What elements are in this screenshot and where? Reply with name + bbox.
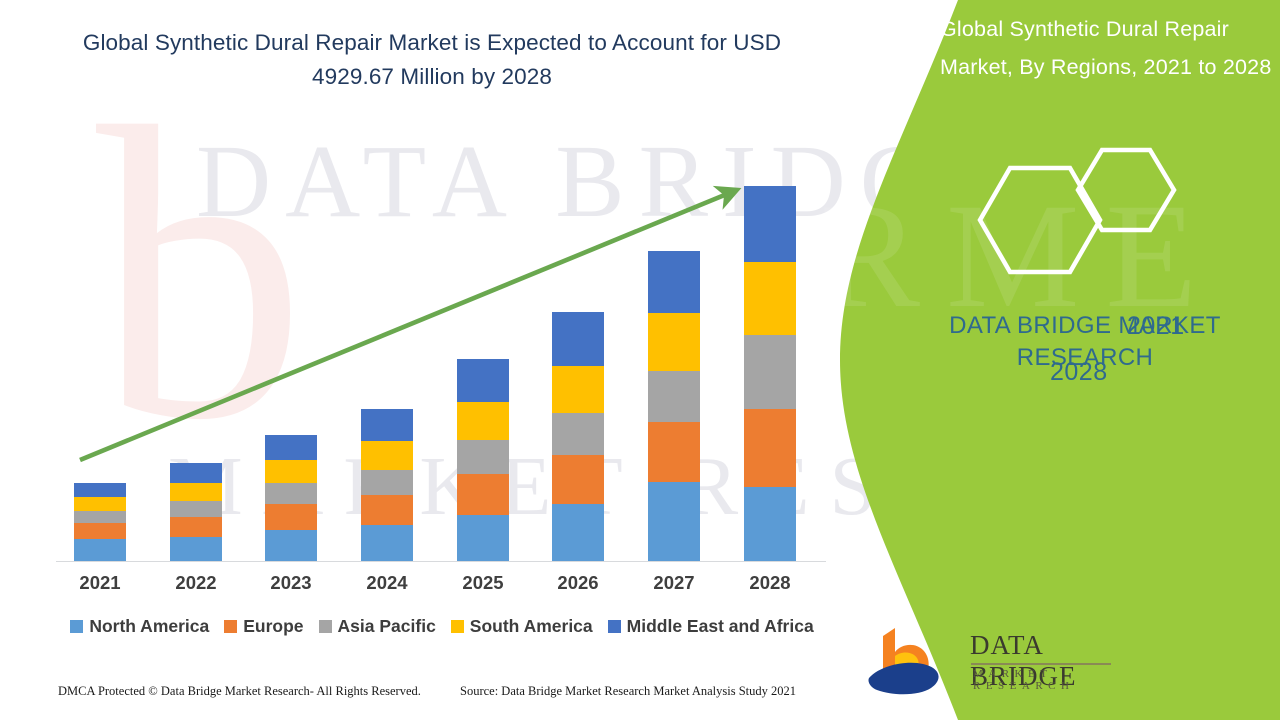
legend-item-north-america[interactable]: North America [70,616,209,637]
bar-segment-2024-middle-east-and-africa [361,409,413,441]
brand-name: DATA BRIDGE MARKET RESEARCH [940,310,1230,374]
legend-label: Middle East and Africa [627,616,814,637]
logo-mark [865,622,965,700]
bar-segment-2022-middle-east-and-africa [170,463,222,483]
stacked-bar-chart [56,170,826,562]
legend-label: South America [470,616,593,637]
footer-copyright: DMCA Protected © Data Bridge Market Rese… [58,684,421,699]
brand-line-1: DATA BRIDGE MARKET [949,312,1221,339]
legend-item-europe[interactable]: Europe [224,616,303,637]
infographic-root: b DATA BRIDGE MARKET RESEARCH Global Syn… [0,0,1280,720]
legend-label: Asia Pacific [338,616,436,637]
brand-line-2: RESEARCH [1017,344,1154,371]
bar-segment-2021-south-america [74,497,126,511]
data-bridge-logo: DATA BRIDGE MARKET RESEARCH [865,622,1115,704]
panel-title: Global Synthetic Dural Repair Market, By… [940,10,1280,86]
bar-segment-2022-asia-pacific [170,501,222,517]
legend-swatch-icon [319,620,332,633]
bar-segment-2025-asia-pacific [457,440,509,474]
x-axis-label-2024: 2024 [352,572,422,594]
footer-source: Source: Data Bridge Market Research Mark… [460,684,796,699]
bar-segment-2025-north-america [457,515,509,561]
bar-segment-2024-europe [361,495,413,525]
legend-swatch-icon [224,620,237,633]
bar-segment-2027-europe [648,422,700,482]
legend-swatch-icon [451,620,464,633]
bar-segment-2027-asia-pacific [648,371,700,422]
bar-segment-2026-europe [552,455,604,504]
bar-segment-2028-europe [744,409,796,487]
bar-2026[interactable] [552,312,604,561]
x-axis-label-2021: 2021 [65,572,135,594]
bar-segment-2026-south-america [552,366,604,413]
bar-segment-2028-asia-pacific [744,335,796,409]
bar-segment-2023-asia-pacific [265,483,317,504]
bar-segment-2024-asia-pacific [361,470,413,495]
x-axis-label-2025: 2025 [448,572,518,594]
bar-segment-2025-south-america [457,402,509,440]
bar-segment-2024-north-america [361,525,413,561]
bar-segment-2023-middle-east-and-africa [265,435,317,460]
bar-segment-2028-north-america [744,487,796,561]
bar-segment-2026-north-america [552,504,604,561]
chart-legend: North AmericaEuropeAsia PacificSouth Ame… [56,616,828,637]
hexagon-shapes [960,140,1280,300]
bar-segment-2021-north-america [74,539,126,561]
bar-segment-2027-middle-east-and-africa [648,251,700,313]
bar-segment-2023-south-america [265,460,317,483]
bar-segment-2023-europe [265,504,317,530]
bar-segment-2025-middle-east-and-africa [457,359,509,402]
x-axis-label-2026: 2026 [543,572,613,594]
page-title: Global Synthetic Dural Repair Market is … [52,26,812,94]
legend-swatch-icon [608,620,621,633]
bar-segment-2022-south-america [170,483,222,501]
legend-item-middle-east-and-africa[interactable]: Middle East and Africa [608,616,814,637]
hexagon-group: 2021 2028 [960,140,1280,300]
bar-segment-2021-middle-east-and-africa [74,483,126,497]
logo-divider [971,663,1111,665]
bar-segment-2027-north-america [648,482,700,561]
bar-2027[interactable] [648,251,700,561]
bar-segment-2027-south-america [648,313,700,371]
bar-2021[interactable] [74,483,126,561]
x-axis-label-2028: 2028 [735,572,805,594]
bar-segment-2024-south-america [361,441,413,470]
bar-segment-2021-europe [74,523,126,539]
bar-segment-2022-north-america [170,537,222,561]
bar-segment-2023-north-america [265,530,317,561]
x-axis-label-2023: 2023 [256,572,326,594]
x-axis-label-2027: 2027 [639,572,709,594]
hexagon-2021 [1078,150,1174,230]
logo-subtitle: MARKET RESEARCH [973,668,1115,692]
bar-segment-2021-asia-pacific [74,511,126,523]
bar-2022[interactable] [170,463,222,561]
bar-2024[interactable] [361,409,413,561]
x-axis-line [56,561,826,562]
legend-label: North America [89,616,209,637]
bar-segment-2025-europe [457,474,509,515]
x-axis-label-2022: 2022 [161,572,231,594]
bar-2023[interactable] [265,435,317,561]
bar-2025[interactable] [457,359,509,561]
bar-segment-2028-south-america [744,262,796,335]
x-axis-labels: 20212022202320242025202620272028 [56,572,826,600]
legend-label: Europe [243,616,303,637]
legend-item-south-america[interactable]: South America [451,616,593,637]
bar-segment-2028-middle-east-and-africa [744,186,796,262]
legend-item-asia-pacific[interactable]: Asia Pacific [319,616,436,637]
legend-swatch-icon [70,620,83,633]
bar-segment-2026-asia-pacific [552,413,604,455]
bar-segment-2026-middle-east-and-africa [552,312,604,366]
bar-segment-2022-europe [170,517,222,537]
bar-2028[interactable] [744,186,796,561]
brand-panel: RME Global Synthetic Dural Repair Market… [840,0,1280,720]
